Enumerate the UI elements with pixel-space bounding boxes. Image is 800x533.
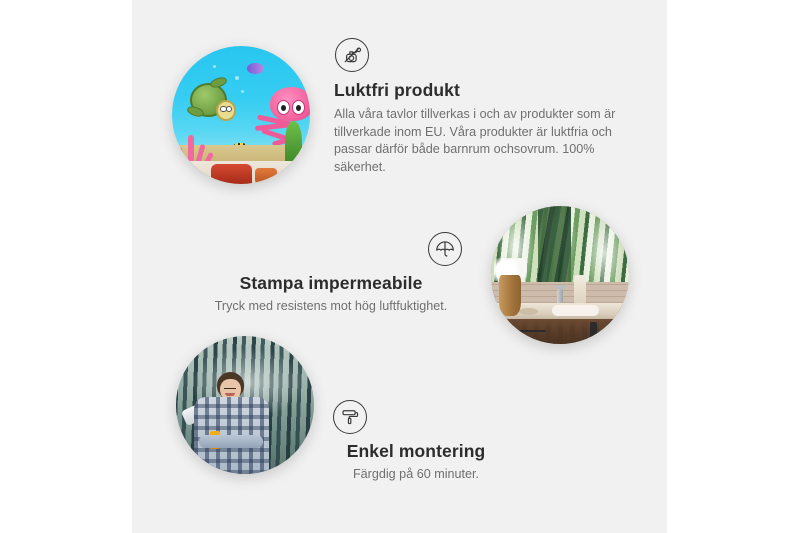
sea-fish-purple bbox=[247, 63, 265, 74]
sea-room-foreground bbox=[172, 161, 310, 184]
feature-body: Färgdig på 60 minuter. bbox=[300, 466, 532, 484]
paint-roller-icon bbox=[333, 400, 367, 434]
feature-easy-mounting: Enkel montering Färgdig på 60 minuter. bbox=[300, 400, 532, 484]
feature-odour-free: Luktfri produkt Alla våra tavlor tillver… bbox=[334, 38, 620, 176]
umbrella-icon bbox=[428, 232, 462, 266]
sea-seaweed bbox=[285, 121, 302, 162]
feature-body: Tryck med resistens mot hög luftfuktighe… bbox=[200, 298, 462, 316]
photo-sea-mural bbox=[172, 46, 310, 184]
no-spray-bottle-icon bbox=[335, 38, 369, 72]
feature-heading: Enkel montering bbox=[300, 441, 532, 462]
feature-heading: Stampa impermeabile bbox=[200, 273, 462, 294]
feature-waterproof-print: Stampa impermeabile Tryck med resistens … bbox=[200, 232, 462, 316]
woman-figure bbox=[193, 372, 273, 474]
bathroom-sink bbox=[552, 305, 599, 316]
sea-turtle bbox=[186, 81, 236, 122]
bathroom-bottle bbox=[574, 275, 586, 305]
feature-heading: Luktfri produkt bbox=[334, 80, 620, 101]
promo-banner: Luktfri produkt Alla våra tavlor tillver… bbox=[0, 0, 800, 533]
bathroom-soap-dish bbox=[519, 308, 538, 315]
photo-bathroom-leaf-wallpaper bbox=[491, 206, 629, 344]
bathroom-vase bbox=[499, 275, 521, 316]
feature-body: Alla våra tavlor tillverkas i och av pro… bbox=[334, 106, 620, 176]
bathroom-cabinet bbox=[491, 319, 629, 344]
photo-woman-paint-roller-forest bbox=[176, 336, 314, 474]
